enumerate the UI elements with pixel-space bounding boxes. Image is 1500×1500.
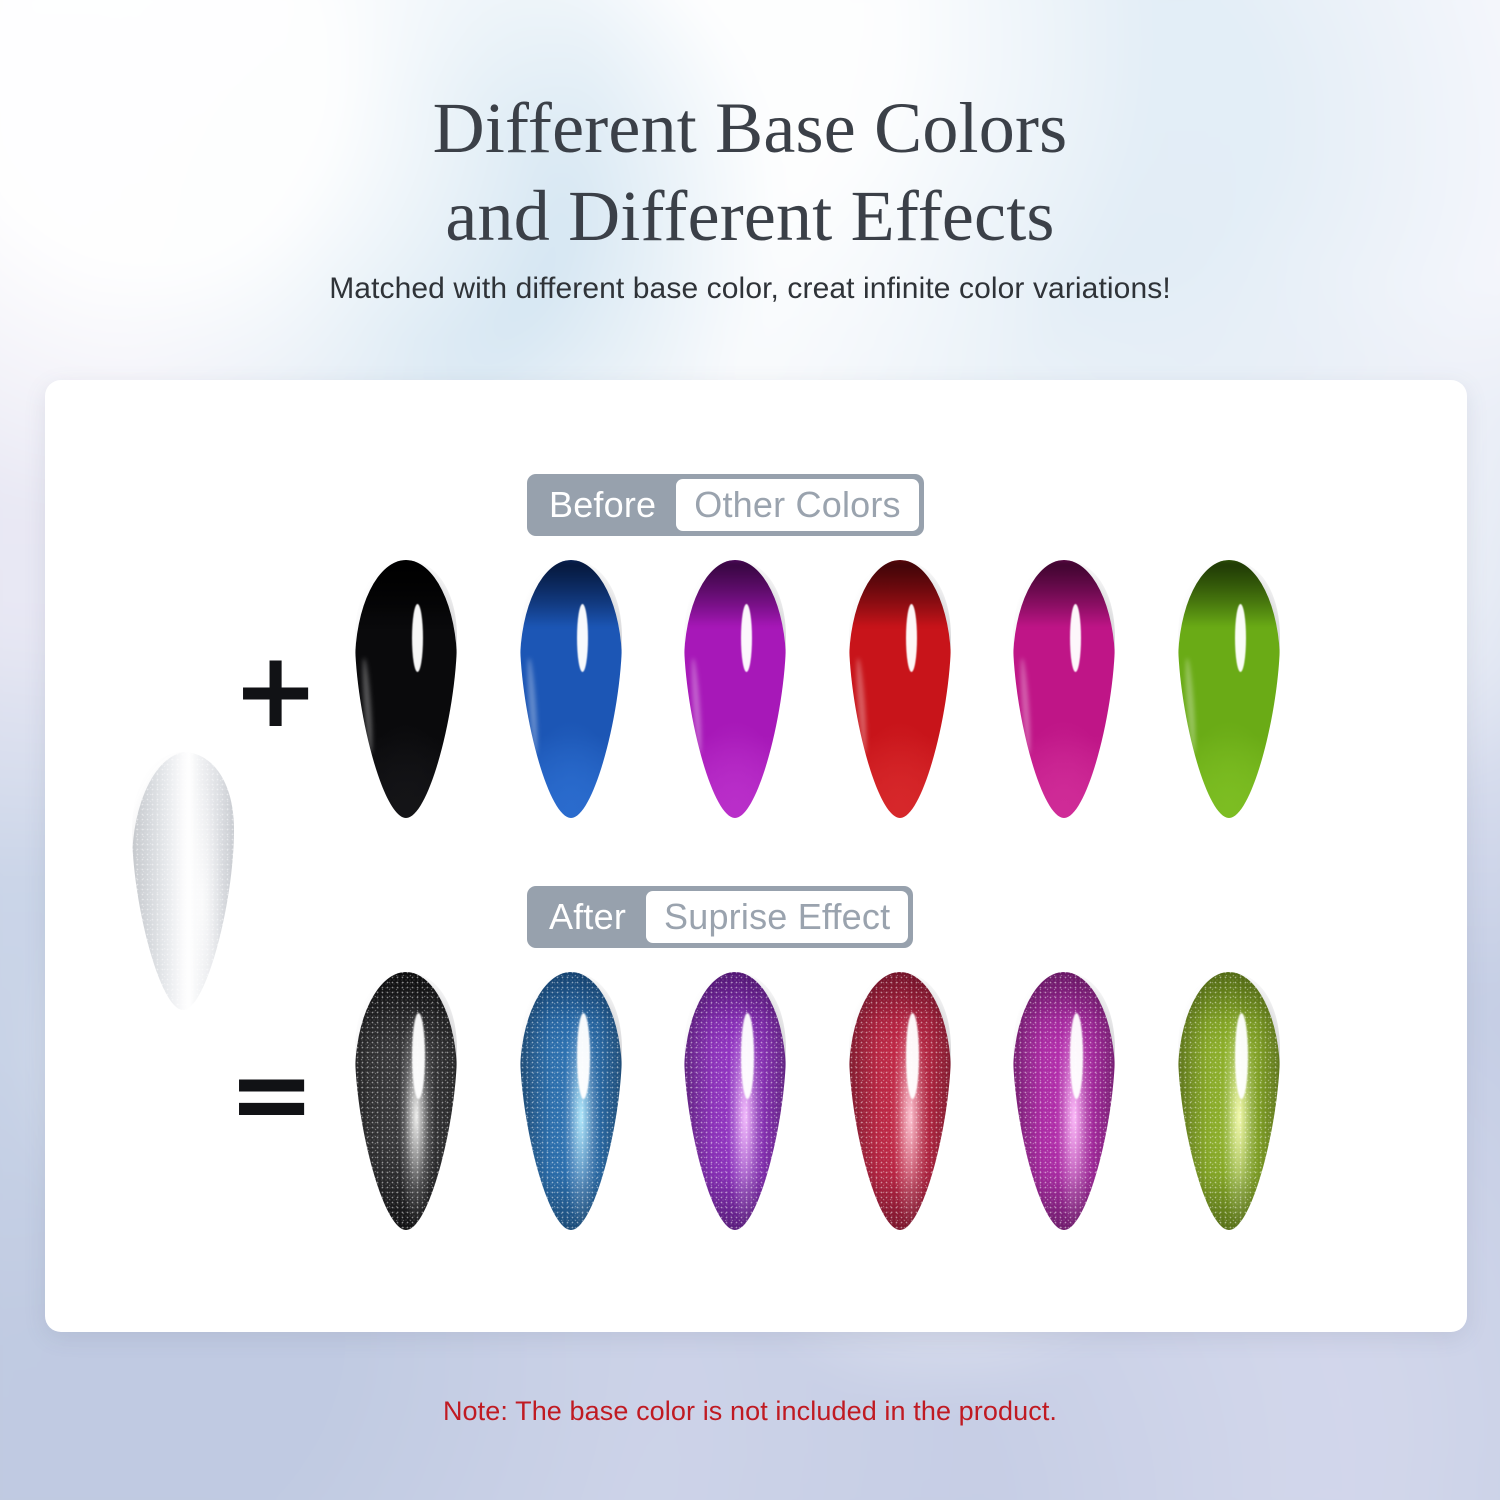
badge-after-tag: Suprise Effect — [646, 891, 908, 943]
badge-after-label: After — [527, 886, 646, 948]
page-subtitle: Matched with different base color, creat… — [0, 272, 1500, 306]
plus-operator-icon: + — [232, 638, 319, 742]
badge-before-tag: Other Colors — [676, 479, 918, 531]
page-title-line-2: and Different Effects — [0, 172, 1500, 260]
equals-operator-icon: = — [228, 1042, 315, 1146]
badge-before-label: Before — [527, 474, 676, 536]
disclaimer-note: Note: The base color is not included in … — [0, 1396, 1500, 1427]
badge-before: Before Other Colors — [527, 474, 924, 536]
page-title-line-1: Different Base Colors — [433, 88, 1068, 168]
badge-after: After Suprise Effect — [527, 886, 913, 948]
page-title: Different Base Colors and Different Effe… — [0, 84, 1500, 260]
